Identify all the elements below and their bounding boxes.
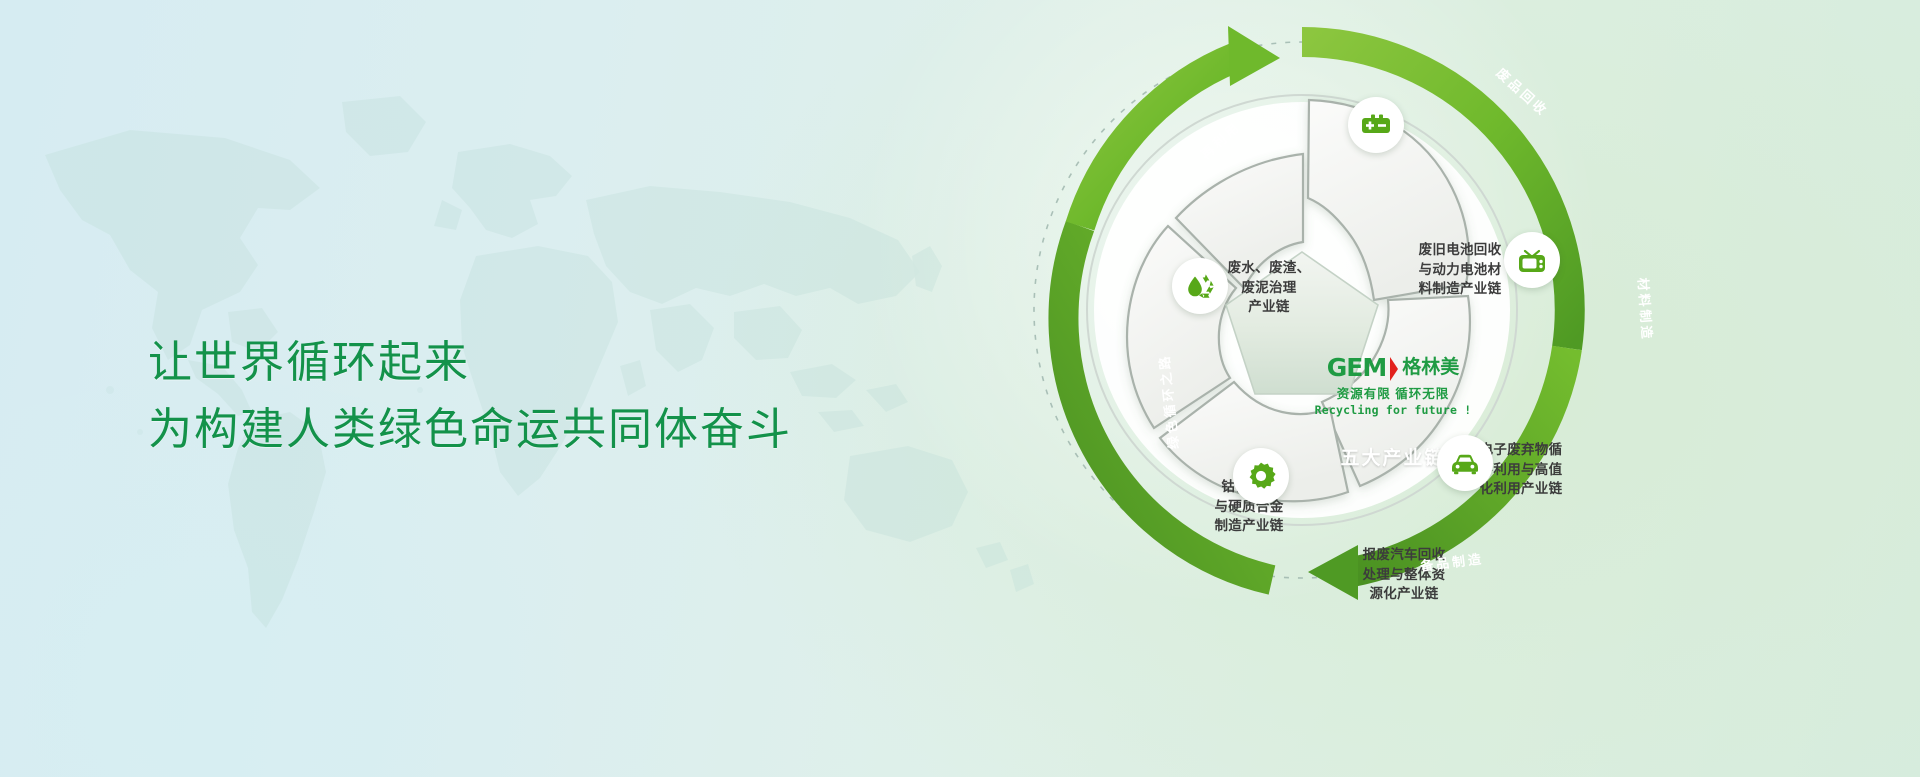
banner-stage: 让世界循环起来 为构建人类绿色命运共同体奋斗 xyxy=(0,0,1920,777)
segment-label-scrap-car: 报废汽车回收 处理与整体资 源化产业链 xyxy=(1340,545,1468,604)
banner-headline: 让世界循环起来 为构建人类绿色命运共同体奋斗 xyxy=(148,330,792,464)
gear-icon xyxy=(1245,460,1277,492)
television-icon-badge xyxy=(1504,232,1560,288)
television-icon xyxy=(1516,244,1548,276)
car-icon-badge xyxy=(1437,435,1493,491)
five-industry-chains-diagram xyxy=(1022,0,1582,640)
battery-icon-badge xyxy=(1348,97,1404,153)
car-icon xyxy=(1449,447,1481,479)
recycle-drop-icon xyxy=(1184,270,1216,302)
battery-icon xyxy=(1360,109,1392,141)
gear-icon-badge xyxy=(1233,448,1289,504)
ring-label-material: 材料制造 xyxy=(1634,277,1657,342)
headline-line-1: 让世界循环起来 xyxy=(148,330,792,397)
recycle-drop-icon-badge xyxy=(1172,258,1228,314)
headline-line-2: 为构建人类绿色命运共同体奋斗 xyxy=(148,397,792,464)
